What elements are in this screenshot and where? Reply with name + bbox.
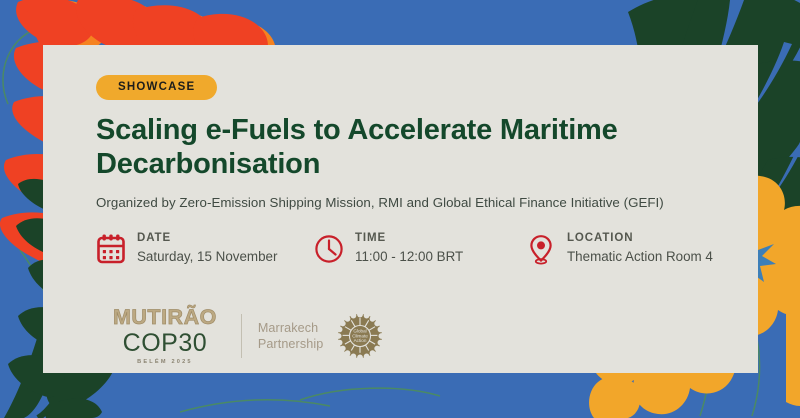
event-card: SHOWCASE Scaling e-Fuels to Accelerate M…	[43, 45, 758, 373]
seal-line-3: Action	[354, 338, 367, 343]
organizers-text: Organized by Zero-Emission Shipping Miss…	[96, 195, 758, 210]
cop30-wordmark: COP30	[113, 330, 217, 356]
time-label: TIME	[355, 232, 463, 246]
marrakech-line-1: Marrakech	[258, 320, 324, 336]
calendar-icon	[96, 233, 126, 265]
page-title: Scaling e-Fuels to Accelerate Maritime D…	[96, 114, 686, 182]
event-details-row: DATE Saturday, 15 November TIME 11:00 - …	[96, 232, 758, 266]
belem-wordmark: BELÉM 2025	[113, 359, 217, 365]
location-value: Thematic Action Room 4	[567, 249, 713, 266]
logo-divider	[241, 314, 242, 358]
flower-3	[786, 292, 800, 406]
global-climate-action-seal: Global Climate Action	[337, 313, 383, 359]
mutirao-wordmark: MUTIRÃO	[113, 307, 217, 329]
cop30-logo: MUTIRÃO COP30 BELÉM 2025	[113, 307, 217, 365]
detail-location: LOCATION Thematic Action Room 4	[526, 232, 713, 266]
date-value: Saturday, 15 November	[137, 249, 277, 266]
showcase-badge: SHOWCASE	[96, 75, 217, 100]
time-value: 11:00 - 12:00 BRT	[355, 249, 463, 266]
clock-icon	[314, 233, 344, 265]
footer-logos: MUTIRÃO COP30 BELÉM 2025 Marrakech Partn…	[113, 307, 383, 365]
marrakech-line-2: Partnership	[258, 336, 324, 352]
detail-date: DATE Saturday, 15 November	[96, 232, 314, 266]
date-label: DATE	[137, 232, 277, 246]
marrakech-partnership-logo: Marrakech Partnership	[258, 320, 324, 352]
location-label: LOCATION	[567, 232, 713, 246]
detail-time: TIME 11:00 - 12:00 BRT	[314, 232, 526, 266]
location-pin-icon	[526, 233, 556, 265]
